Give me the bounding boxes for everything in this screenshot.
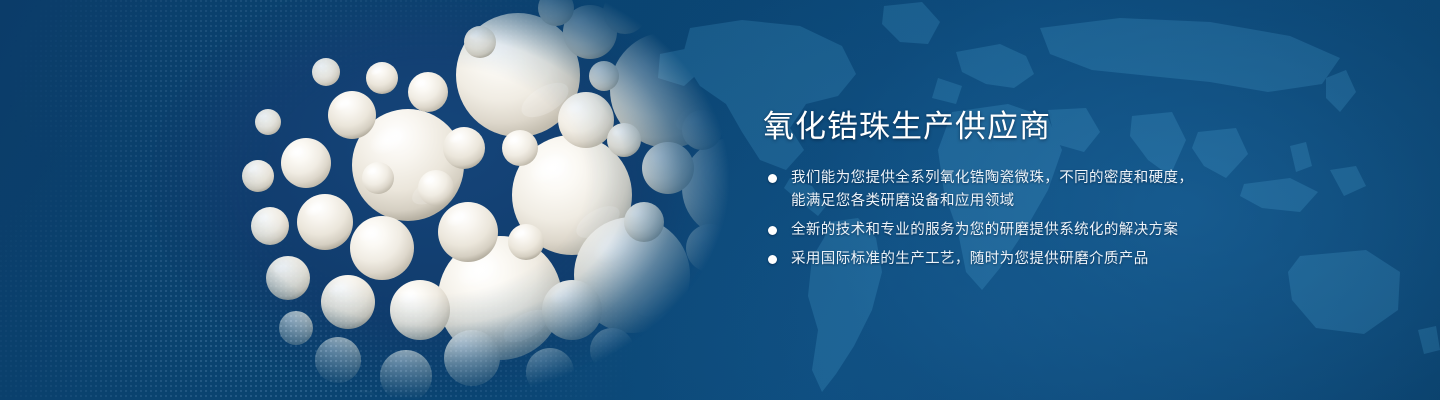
- feature-bullet-list: 我们能为您提供全系列氧化锆陶瓷微珠，不同的密度和硬度， 能满足您各类研磨设备和应…: [763, 167, 1383, 271]
- bullet-dot-icon: [768, 226, 777, 235]
- bullet-dot-icon: [768, 174, 777, 183]
- bullet-text-line-1: 我们能为您提供全系列氧化锆陶瓷微珠，不同的密度和硬度，: [791, 170, 1193, 186]
- halftone-dot-pattern: [0, 0, 760, 400]
- list-item: 全新的技术和专业的服务为您的研磨提供系统化的解决方案: [763, 219, 1383, 242]
- bullet-text-line-1: 采用国际标准的生产工艺，随时为您提供研磨介质产品: [791, 251, 1149, 267]
- halftone-dot-pattern-top: [0, 0, 700, 300]
- bullet-dot-icon: [768, 255, 777, 264]
- bullet-text-line-2: 能满足您各类研磨设备和应用领域: [791, 190, 1383, 213]
- bullet-text-line-1: 全新的技术和专业的服务为您的研磨提供系统化的解决方案: [791, 222, 1178, 238]
- zirconia-beads-image: [120, 0, 780, 400]
- page-title: 氧化锆珠生产供应商: [763, 108, 1383, 145]
- hero-banner: 氧化锆珠生产供应商 我们能为您提供全系列氧化锆陶瓷微珠，不同的密度和硬度， 能满…: [0, 0, 1440, 400]
- list-item: 我们能为您提供全系列氧化锆陶瓷微珠，不同的密度和硬度， 能满足您各类研磨设备和应…: [763, 167, 1383, 213]
- list-item: 采用国际标准的生产工艺，随时为您提供研磨介质产品: [763, 248, 1383, 271]
- banner-copy: 氧化锆珠生产供应商 我们能为您提供全系列氧化锆陶瓷微珠，不同的密度和硬度， 能满…: [763, 108, 1383, 271]
